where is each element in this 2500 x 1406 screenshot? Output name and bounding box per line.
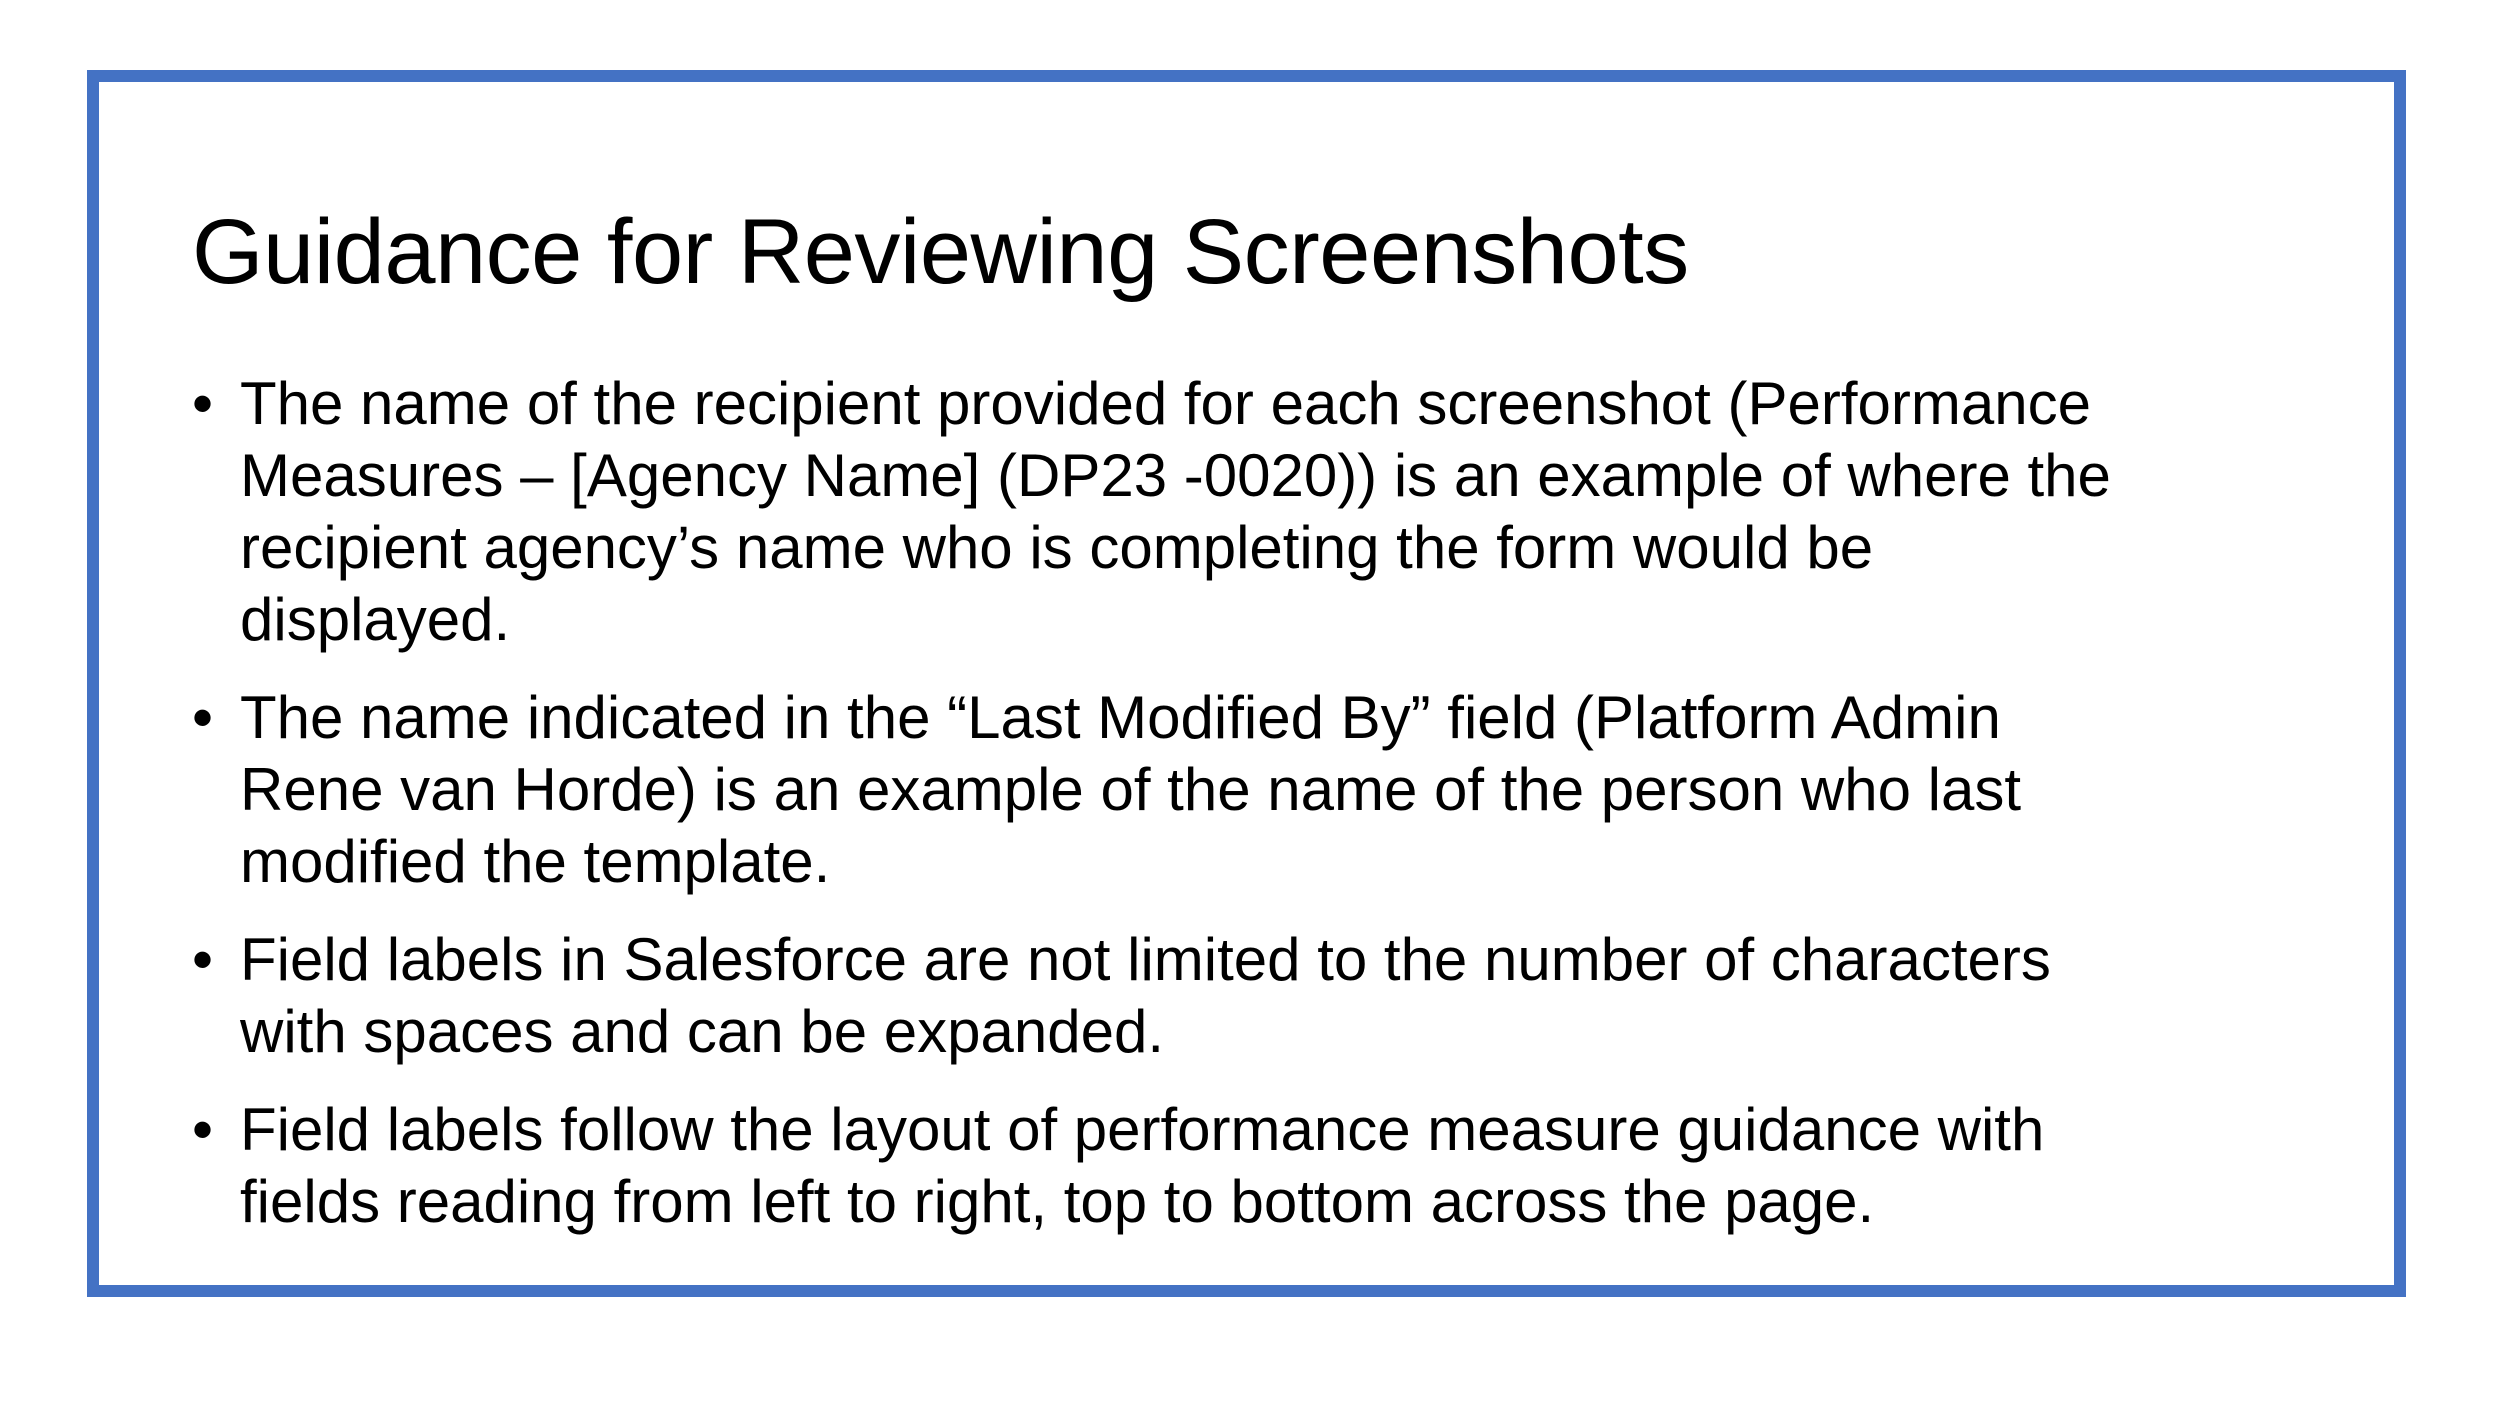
list-item: • Field labels in Salesforce are not lim… — [186, 924, 2306, 1068]
bullet-point-icon: • — [192, 1094, 226, 1166]
bullet-point-icon: • — [192, 682, 226, 754]
list-item: • The name indicated in the “Last Modifi… — [186, 682, 2306, 898]
list-item-text: The name of the recipient provided for e… — [240, 368, 2306, 656]
bullet-point-icon: • — [192, 924, 226, 996]
list-item-text: Field labels in Salesforce are not limit… — [240, 924, 2306, 1068]
bullet-point-icon: • — [192, 368, 226, 440]
page-title: Guidance for Reviewing Screenshots — [192, 204, 2292, 302]
list-item: • The name of the recipient provided for… — [186, 368, 2306, 656]
list-item-text: Field labels follow the layout of perfor… — [240, 1094, 2306, 1238]
bullet-list: • The name of the recipient provided for… — [186, 368, 2306, 1238]
slide-canvas: Guidance for Reviewing Screenshots • The… — [0, 0, 2500, 1406]
list-item: • Field labels follow the layout of perf… — [186, 1094, 2306, 1238]
list-item-text: The name indicated in the “Last Modified… — [240, 682, 2306, 898]
